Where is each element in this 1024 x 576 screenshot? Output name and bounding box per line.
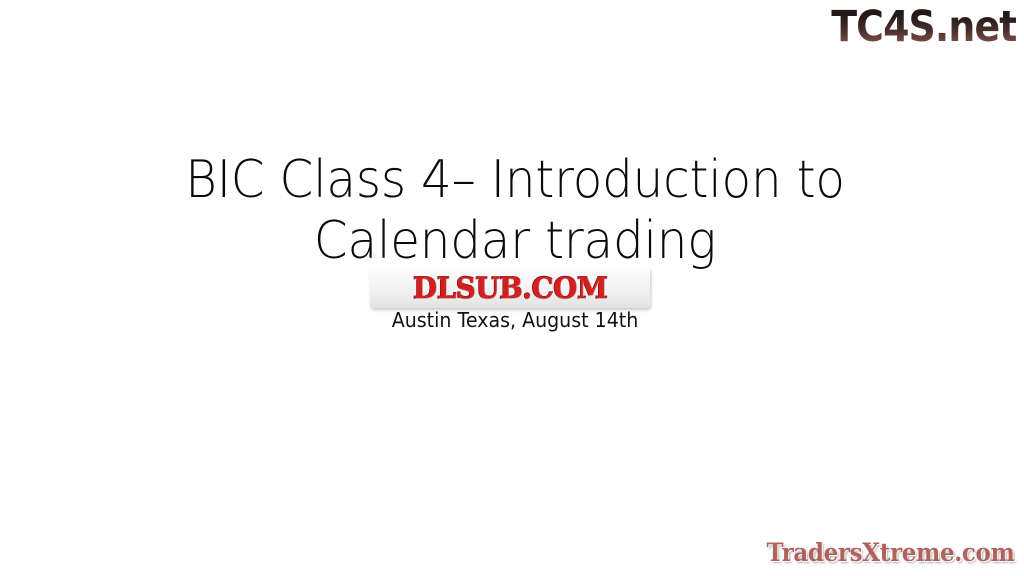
tc4s-watermark: TC4S.net	[831, 2, 1016, 52]
tradersxtreme-watermark: TradersXtreme.com	[766, 538, 1014, 568]
page-subtitle: Austin Texas, August 14th	[140, 308, 891, 332]
title-block: BIC Class 4– Introduction to Calendar tr…	[120, 150, 910, 273]
presentation-slide: TC4S.net BIC Class 4– Introduction to Ca…	[0, 0, 1024, 576]
subtitle-block: Austin Texas, August 14th	[120, 308, 910, 332]
dlsub-watermark: DLSUB.COM	[370, 268, 650, 308]
dlsub-watermark-label: DLSUB.COM	[413, 273, 607, 303]
page-title: BIC Class 4– Introduction to Calendar tr…	[148, 150, 883, 273]
